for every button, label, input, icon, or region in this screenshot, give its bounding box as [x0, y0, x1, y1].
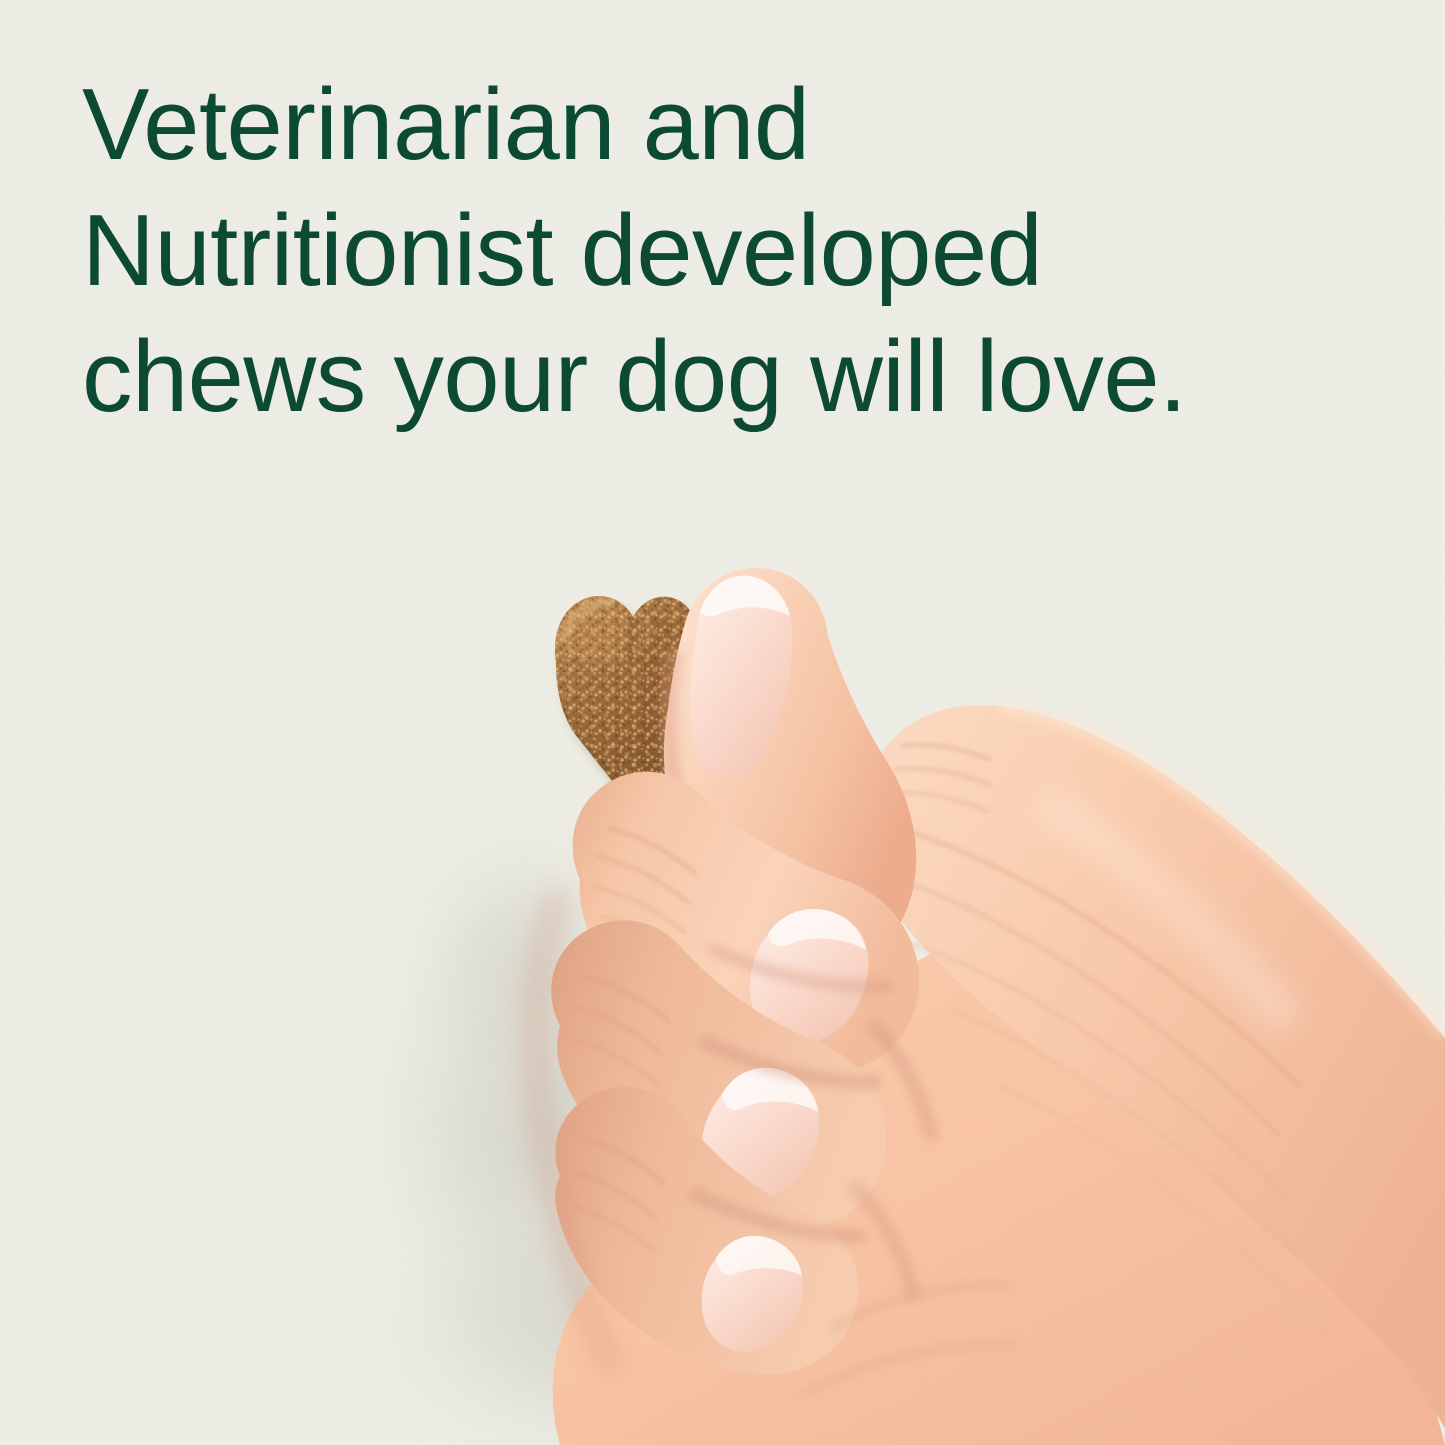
page-title: Veterinarian and Nutritionist developed …: [82, 62, 1302, 440]
marketing-image-canvas: Veterinarian and Nutritionist developed …: [0, 0, 1445, 1445]
headline-line-2: Nutritionist developed: [82, 188, 1302, 314]
headline-line-3: chews your dog will love.: [82, 314, 1302, 440]
headline-line-1: Veterinarian and: [82, 62, 1302, 188]
